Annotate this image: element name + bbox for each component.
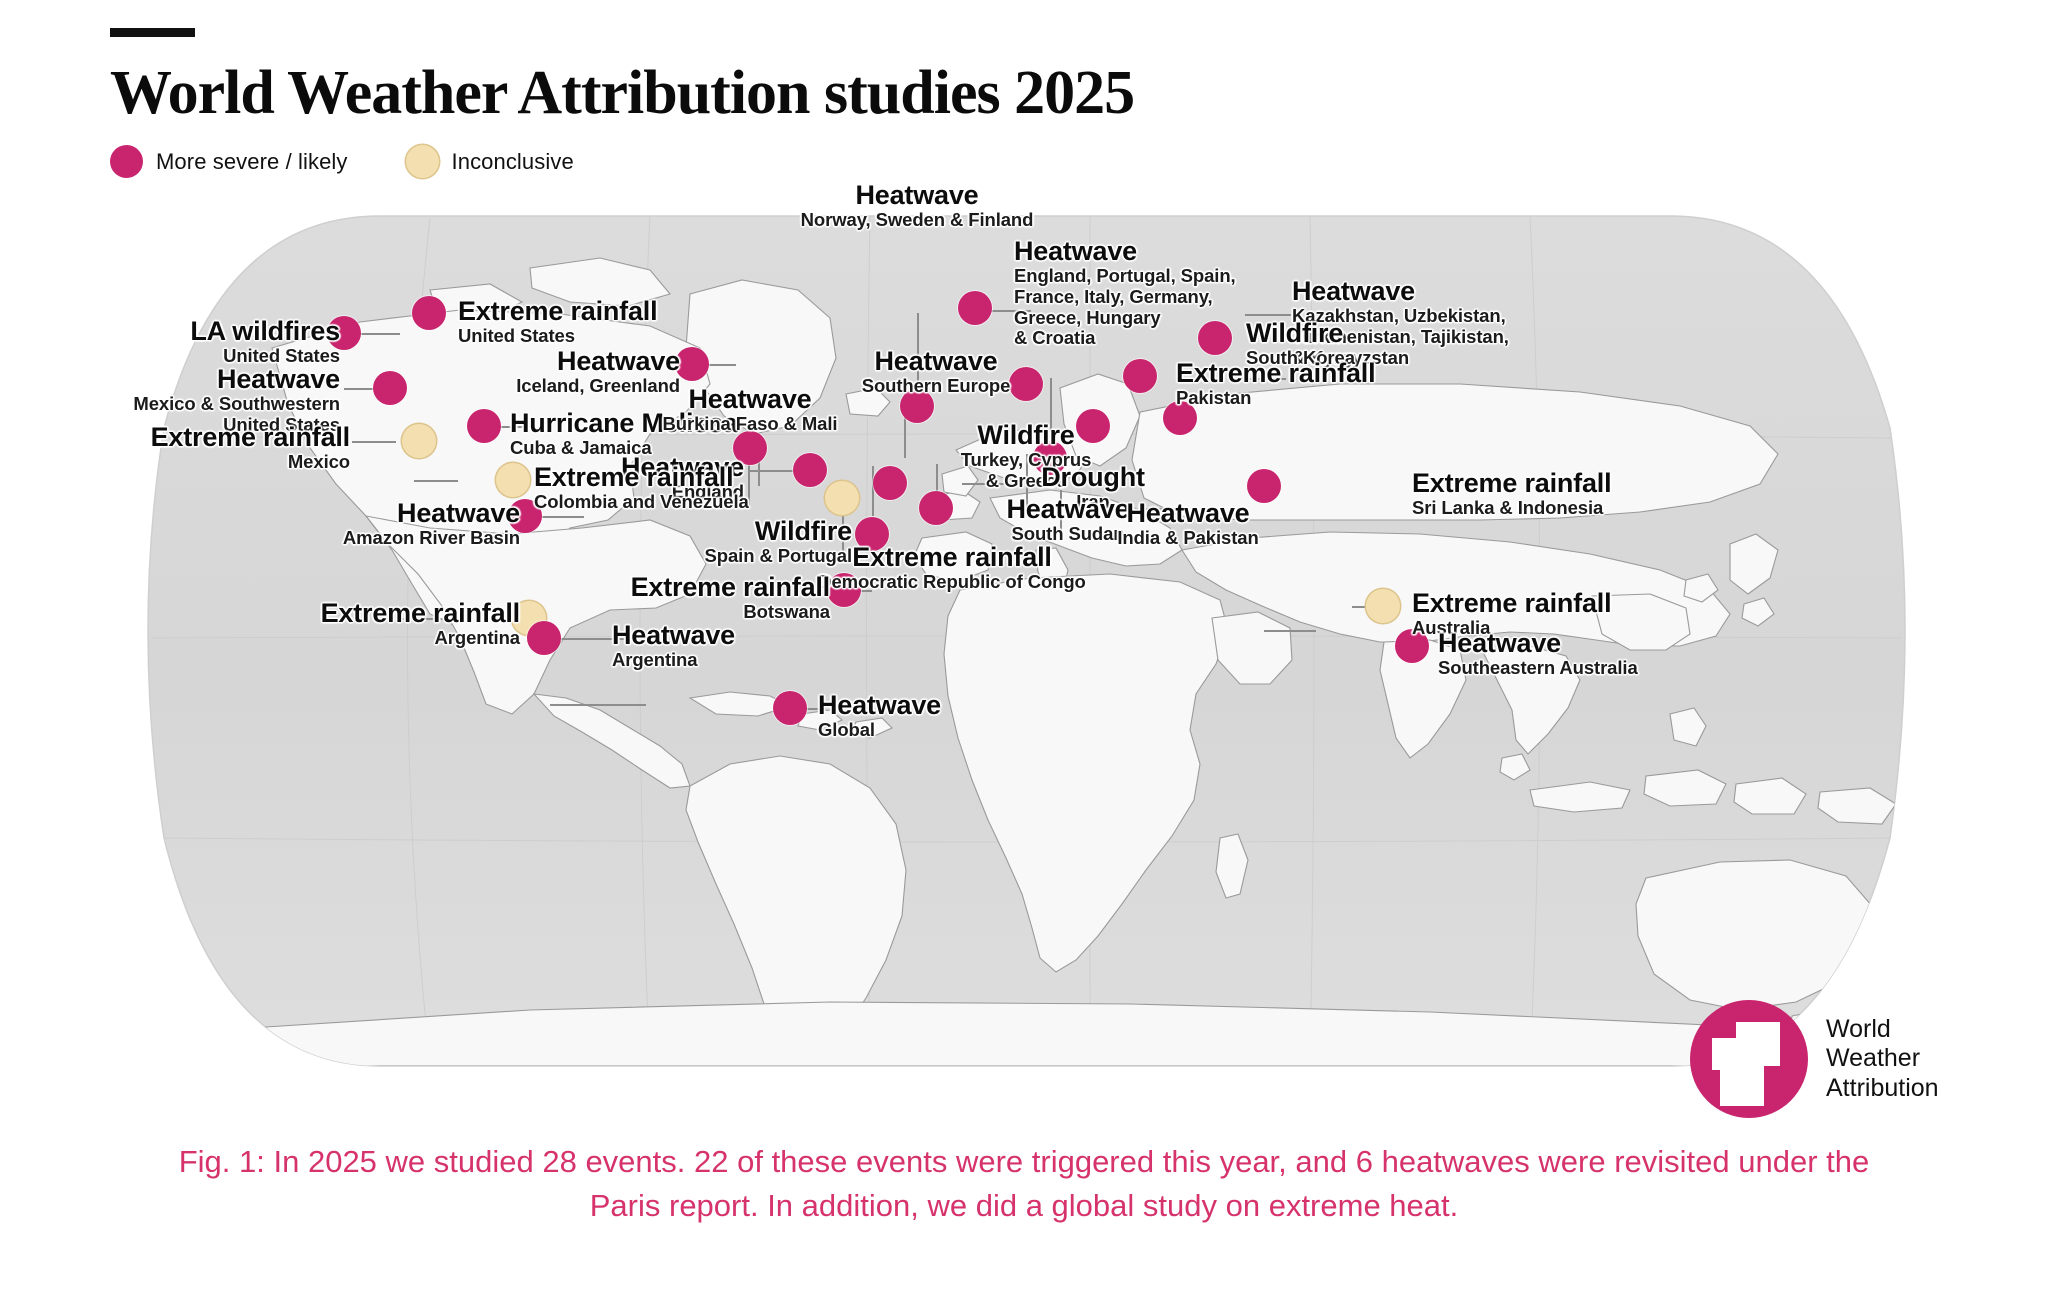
title-rule bbox=[110, 28, 195, 37]
event-label-heatwave-southeastern-australia: Heatwave Southeastern Australia bbox=[1438, 628, 1638, 679]
event-marker-extreme-rainfall-australia[interactable] bbox=[1366, 589, 1400, 623]
event-label-heatwave-india-pakistan: Heatwave India & Pakistan bbox=[1117, 498, 1258, 549]
legend-dot-inconclusive-icon bbox=[406, 145, 439, 178]
event-label-heatwave-global: Heatwave Global bbox=[818, 690, 941, 741]
event-label-heatwave-south-sudan: Heatwave South Sudan bbox=[1007, 494, 1130, 545]
event-marker-heatwave-southern-europe[interactable] bbox=[919, 491, 953, 525]
world-map: Heatwave Iceland, Greenland Heatwave Nor… bbox=[130, 198, 1920, 1098]
event-marker-heatwave-iceland-greenland[interactable] bbox=[675, 347, 709, 381]
page-title: World Weather Attribution studies 2025 bbox=[110, 58, 1134, 129]
legend: More severe / likely Inconclusive bbox=[110, 145, 574, 178]
event-label-extreme-rainfall-drc: Extreme rainfall Democratic Republic of … bbox=[818, 542, 1086, 593]
event-marker-extreme-rainfall-pakistan[interactable] bbox=[1123, 359, 1157, 393]
event-label-extreme-rainfall-botswana: Extreme rainfall Botswana bbox=[400, 572, 830, 623]
event-label-la-wildfires-united-states: LA wildfires United States bbox=[0, 316, 340, 367]
event-marker-heatwave-global[interactable] bbox=[773, 691, 807, 725]
logo-line-2: Weather bbox=[1826, 1044, 1920, 1072]
event-label-heatwave-norway-sweden-finland: Heatwave Norway, Sweden & Finland bbox=[801, 180, 1034, 231]
event-label-extreme-rainfall-mexico: Extreme rainfall Mexico bbox=[0, 422, 350, 473]
legend-item-severe: More severe / likely bbox=[110, 145, 348, 178]
event-marker-wildfire-turkey-cyprus-greece[interactable] bbox=[1009, 367, 1043, 401]
event-marker-heatwave-central-asia[interactable] bbox=[958, 291, 992, 325]
event-marker-extreme-rainfall-drc[interactable] bbox=[825, 481, 859, 515]
event-label-extreme-rainfall-sri-lanka-indonesia: Extreme rainfall Sri Lanka & Indonesia bbox=[1412, 468, 1611, 519]
legend-dot-severe-icon bbox=[110, 145, 143, 178]
event-label-heatwave-southern-europe: Heatwave Southern Europe bbox=[862, 346, 1011, 397]
event-marker-heatwave-england[interactable] bbox=[793, 453, 827, 487]
leader-line bbox=[872, 466, 874, 516]
event-label-heatwave-europe: Heatwave England, Portugal, Spain, Franc… bbox=[1014, 236, 1236, 349]
wwa-logo-text: World Weather Attribution bbox=[1826, 1015, 1939, 1104]
logo-line-1: World bbox=[1826, 1015, 1891, 1043]
figure-caption: Fig. 1: In 2025 we studied 28 events. 22… bbox=[174, 1140, 1874, 1228]
event-marker-extreme-rainfall-united-states[interactable] bbox=[412, 296, 446, 330]
leader-line bbox=[352, 441, 396, 443]
wwa-logo: World Weather Attribution bbox=[1690, 1000, 1939, 1118]
logo-line-3: Attribution bbox=[1826, 1074, 1939, 1102]
legend-label-inconclusive: Inconclusive bbox=[452, 149, 574, 175]
legend-label-severe: More severe / likely bbox=[156, 149, 348, 175]
event-marker-hurricane-melissa[interactable] bbox=[467, 409, 501, 443]
event-label-extreme-rainfall-colombia-venezuela: Extreme rainfall Colombia and Venezuela bbox=[534, 462, 749, 513]
leader-line bbox=[550, 704, 646, 706]
legend-item-inconclusive: Inconclusive bbox=[406, 145, 574, 178]
event-sublabel: England, Portugal, Spain, France, Italy,… bbox=[1014, 266, 1236, 349]
event-label-wildfire-spain-portugal: Wildfire Spain & Portugal bbox=[390, 516, 852, 567]
event-marker-heatwave-argentina[interactable] bbox=[527, 621, 561, 655]
event-label-extreme-rainfall-pakistan: Extreme rainfall Pakistan bbox=[1176, 358, 1375, 409]
event-label-extreme-rainfall-united-states: Extreme rainfall United States bbox=[458, 296, 657, 347]
event-marker-heatwave-europe[interactable] bbox=[873, 466, 907, 500]
event-label-heatwave-burkina-faso-mali: Heatwave Burkina Faso & Mali bbox=[663, 384, 838, 435]
leader-line bbox=[1245, 314, 1291, 316]
wwa-logo-mark-icon bbox=[1690, 1000, 1808, 1118]
leader-line bbox=[1264, 630, 1316, 632]
event-label-heatwave-argentina: Heatwave Argentina bbox=[612, 620, 735, 671]
